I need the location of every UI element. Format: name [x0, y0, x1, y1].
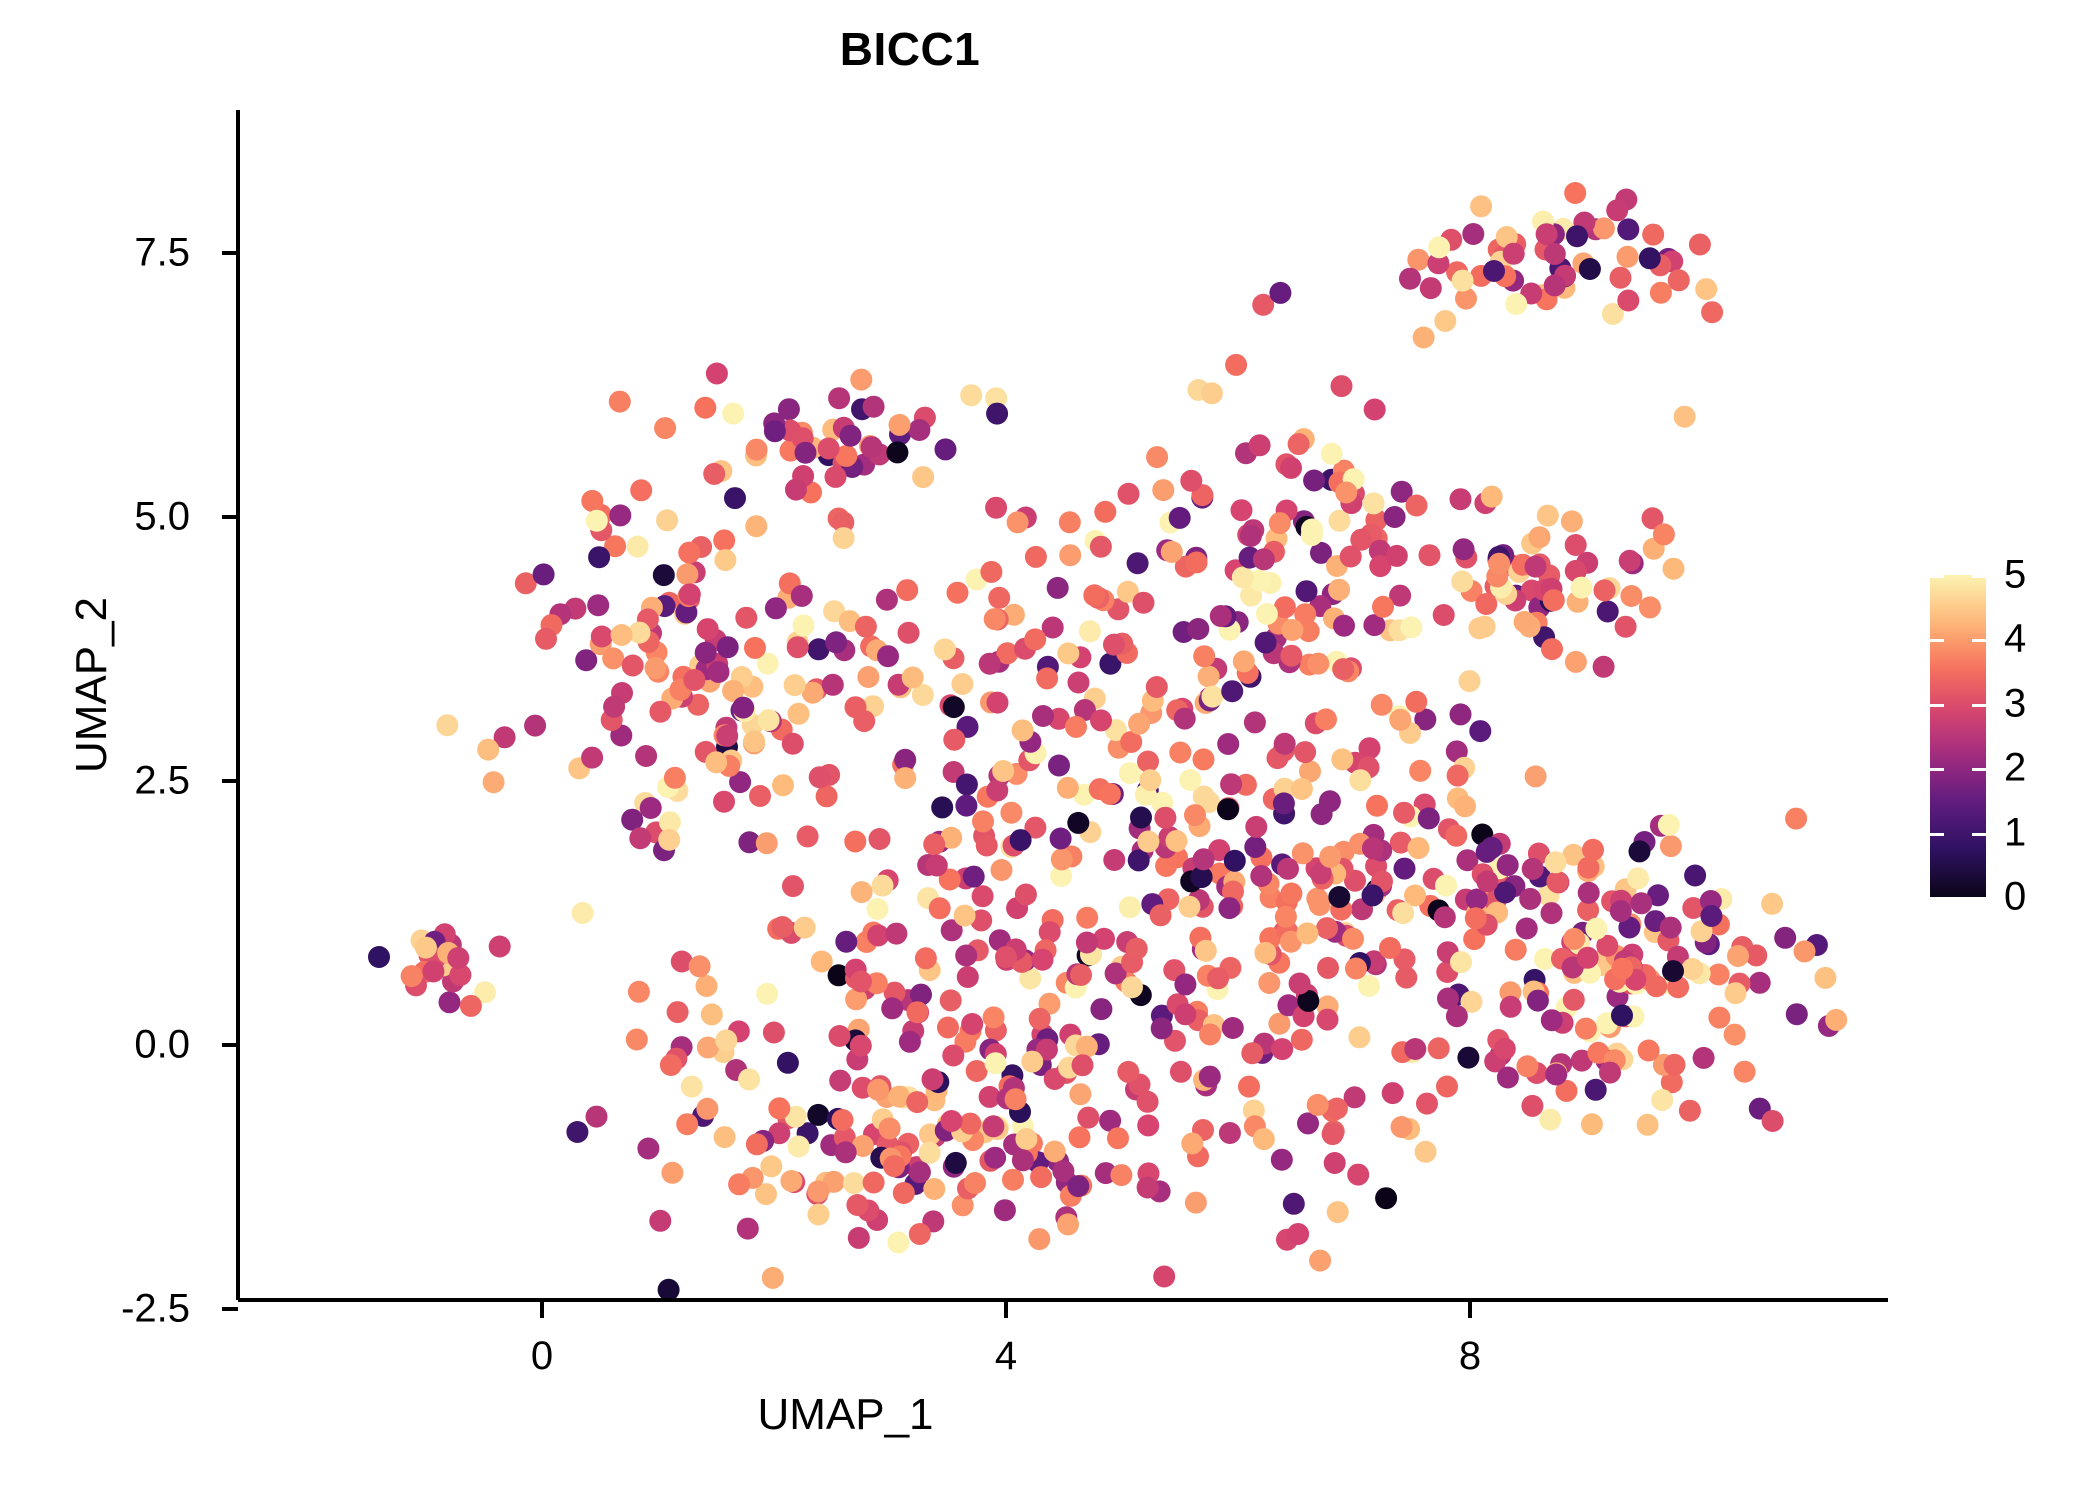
scatter-point: [1119, 762, 1141, 784]
scatter-point: [1749, 972, 1771, 994]
scatter-point: [1169, 507, 1191, 529]
scatter-point: [1404, 1038, 1426, 1060]
scatter-point: [763, 1022, 785, 1044]
scatter-point: [1007, 511, 1029, 533]
scatter-point: [1606, 199, 1628, 221]
scatter-point: [957, 966, 979, 988]
scatter-point: [1651, 1089, 1673, 1111]
scatter-point: [1231, 499, 1253, 521]
scatter-point: [1024, 628, 1046, 650]
scatter-point: [678, 542, 700, 564]
scatter-point: [1151, 1017, 1173, 1039]
scatter-point: [622, 655, 644, 677]
y-tick-label: 7.5: [30, 231, 190, 276]
scatter-point: [1384, 506, 1406, 528]
scatter-point: [1180, 470, 1202, 492]
scatter-point: [1610, 900, 1632, 922]
scatter-point: [791, 585, 813, 607]
scatter-point: [1645, 975, 1667, 997]
scatter-point: [1420, 277, 1442, 299]
scatter-point: [1219, 1122, 1241, 1144]
scatter-point: [832, 1109, 854, 1131]
colorbar-tick: [1930, 833, 1944, 836]
scatter-point: [760, 1155, 782, 1177]
scatter-point: [676, 1113, 698, 1135]
scatter-point: [1187, 618, 1209, 640]
scatter-point: [1273, 792, 1295, 814]
scatter-point: [1462, 223, 1484, 245]
scatter-point: [653, 564, 675, 586]
scatter-point: [581, 747, 603, 769]
scatter-point: [780, 1170, 802, 1192]
scatter-point: [1288, 433, 1310, 455]
scatter-point: [1280, 883, 1302, 905]
scatter-point: [1076, 932, 1098, 954]
scatter-point: [807, 1104, 829, 1126]
scatter-point: [1201, 382, 1223, 404]
scatter-point: [1546, 871, 1568, 893]
scatter-point: [714, 1126, 736, 1148]
scatter-point: [1217, 733, 1239, 755]
scatter-point: [1032, 705, 1054, 727]
scatter-point: [1519, 888, 1541, 910]
scatter-point: [1291, 1029, 1313, 1051]
scatter-point: [1725, 982, 1747, 1004]
scatter-point: [1389, 709, 1411, 731]
scatter-point: [676, 563, 698, 585]
scatter-point: [1154, 807, 1176, 829]
scatter-point: [1275, 906, 1297, 928]
scatter-point: [1447, 765, 1469, 787]
scatter-point: [735, 607, 757, 629]
scatter-point: [848, 1227, 870, 1249]
scatter-point: [1039, 921, 1061, 943]
scatter-point: [1382, 1082, 1404, 1104]
scatter-point: [695, 642, 717, 664]
scatter-point: [1198, 666, 1220, 688]
scatter-point: [1416, 1093, 1438, 1115]
scatter-point: [1186, 551, 1208, 573]
scatter-point: [1005, 1088, 1027, 1110]
plot-canvas: [0, 0, 2100, 1500]
scatter-point: [1067, 812, 1089, 834]
scatter-point: [840, 425, 862, 447]
scatter-point: [1450, 703, 1472, 725]
scatter-point: [929, 897, 951, 919]
scatter-point: [658, 829, 680, 851]
scatter-point: [422, 961, 444, 983]
scatter-point: [1240, 525, 1262, 547]
scatter-point: [1366, 795, 1388, 817]
scatter-point: [483, 771, 505, 793]
scatter-point: [1083, 584, 1105, 606]
scatter-point: [1184, 804, 1206, 826]
scatter-point: [1445, 825, 1467, 847]
scatter-points-layer: [368, 182, 1847, 1301]
scatter-point: [1137, 1114, 1159, 1136]
scatter-point: [1015, 884, 1037, 906]
scatter-point: [1679, 1100, 1701, 1122]
scatter-point: [1307, 653, 1329, 675]
scatter-point: [1217, 798, 1239, 820]
scatter-point: [1516, 918, 1538, 940]
colorbar-tick-label: 5: [2004, 553, 2026, 598]
colorbar-tick: [1930, 768, 1944, 771]
scatter-point: [931, 796, 953, 818]
scatter-point: [1465, 907, 1487, 929]
scatter-point: [1121, 976, 1143, 998]
scatter-point: [1364, 399, 1386, 421]
scatter-point: [1224, 850, 1246, 872]
scatter-point: [994, 1199, 1016, 1221]
scatter-point: [1153, 1266, 1175, 1288]
scatter-point: [1660, 835, 1682, 857]
scatter-point: [1328, 886, 1350, 908]
scatter-point: [1433, 604, 1455, 626]
scatter-point: [1581, 1113, 1603, 1135]
scatter-point: [1307, 1094, 1329, 1116]
scatter-point: [696, 1098, 718, 1120]
scatter-point: [746, 1133, 768, 1155]
scatter-point: [788, 1136, 810, 1158]
scatter-point: [1375, 1187, 1397, 1209]
scatter-point: [1012, 1149, 1034, 1171]
colorbar-tick: [1930, 897, 1944, 900]
scatter-point: [1407, 249, 1429, 271]
scatter-point: [1475, 593, 1497, 615]
scatter-point: [1761, 893, 1783, 915]
scatter-point: [833, 527, 855, 549]
scatter-point: [896, 579, 918, 601]
scatter-point: [1400, 616, 1422, 638]
scatter-point: [1195, 940, 1217, 962]
scatter-point: [1650, 282, 1672, 304]
scatter-point: [1435, 875, 1457, 897]
scatter-point: [1418, 807, 1440, 829]
scatter-point: [401, 965, 423, 987]
scatter-point: [787, 636, 809, 658]
colorbar-tick: [1972, 768, 1986, 771]
scatter-point: [1617, 246, 1639, 268]
scatter-point: [1069, 1083, 1091, 1105]
scatter-point: [976, 835, 998, 857]
scatter-point: [863, 396, 885, 418]
scatter-point: [1372, 596, 1394, 618]
scatter-point: [703, 463, 725, 485]
scatter-point: [1150, 904, 1172, 926]
scatter-point: [1545, 1064, 1567, 1086]
scatter-point: [785, 479, 807, 501]
scatter-point: [1335, 482, 1357, 504]
x-tick-label: 8: [1410, 1334, 1530, 1379]
scatter-point: [1319, 846, 1341, 868]
scatter-point: [1664, 1054, 1686, 1076]
scatter-point: [1178, 896, 1200, 918]
colorbar-tick-label: 0: [2004, 875, 2026, 920]
scatter-point: [1582, 839, 1604, 861]
scatter-point: [1481, 837, 1503, 859]
colorbar-tick: [1972, 833, 1986, 836]
scatter-point: [586, 510, 608, 532]
scatter-point: [1371, 694, 1393, 716]
scatter-point: [1258, 972, 1280, 994]
y-axis-title: UMAP_2: [67, 335, 117, 1035]
scatter-point: [1076, 907, 1098, 929]
colorbar-tick-label: 3: [2004, 681, 2026, 726]
scatter-point: [535, 628, 557, 650]
scatter-point: [1076, 1036, 1098, 1058]
scatter-point: [1340, 546, 1362, 568]
scatter-point: [1724, 1024, 1746, 1046]
scatter-point: [1615, 616, 1637, 638]
scatter-point: [1269, 512, 1291, 534]
scatter-point: [1459, 670, 1481, 692]
scatter-point: [762, 1267, 784, 1289]
scatter-point: [415, 937, 437, 959]
scatter-point: [715, 1029, 737, 1051]
scatter-point: [934, 638, 956, 660]
scatter-point: [906, 1091, 928, 1113]
scatter-point: [886, 441, 908, 463]
scatter-point: [893, 1182, 915, 1204]
scatter-point: [1322, 1123, 1344, 1145]
scatter-point: [1437, 988, 1459, 1010]
scatter-point: [885, 923, 907, 945]
scatter-point: [908, 419, 930, 441]
scatter-point: [807, 1180, 829, 1202]
scatter-point: [1413, 327, 1435, 349]
scatter-point: [1225, 354, 1247, 376]
scatter-point: [1565, 534, 1587, 556]
scatter-point: [368, 946, 390, 968]
y-tick-label: -2.5: [30, 1287, 190, 1332]
scatter-point: [1210, 605, 1232, 627]
scatter-point: [1379, 937, 1401, 959]
scatter-point: [1274, 733, 1296, 755]
scatter-point: [1348, 1026, 1370, 1048]
scatter-point: [1406, 495, 1428, 517]
scatter-point: [716, 725, 738, 747]
scatter-point: [909, 1223, 931, 1245]
scatter-point: [972, 885, 994, 907]
scatter-point: [879, 1118, 901, 1140]
scatter-point: [1010, 829, 1032, 851]
scatter-point: [1301, 524, 1323, 546]
scatter-point: [1658, 814, 1680, 836]
scatter-point: [988, 587, 1010, 609]
scatter-point: [1283, 1193, 1305, 1215]
scatter-point: [1327, 1201, 1349, 1223]
scatter-point: [1593, 217, 1615, 239]
scatter-point: [1497, 854, 1519, 876]
scatter-point: [1575, 1018, 1597, 1040]
scatter-point: [881, 997, 903, 1019]
scatter-point: [1468, 617, 1490, 639]
scatter-point: [1244, 836, 1266, 858]
scatter-point: [1419, 544, 1441, 566]
colorbar-tick: [1930, 575, 1944, 578]
scatter-point: [1271, 1149, 1293, 1171]
scatter-point: [1708, 1007, 1730, 1029]
scatter-point: [588, 546, 610, 568]
scatter-point: [1405, 691, 1427, 713]
colorbar-tick: [1930, 639, 1944, 642]
scatter-point: [661, 1162, 683, 1184]
scatter-point: [919, 1142, 941, 1164]
scatter-point: [1048, 755, 1070, 777]
scatter-point: [1362, 884, 1384, 906]
scatter-point: [1146, 676, 1168, 698]
scatter-point: [1599, 1062, 1621, 1084]
scatter-point: [1221, 680, 1243, 702]
scatter-point: [1543, 589, 1565, 611]
scatter-point: [1044, 1141, 1066, 1163]
scatter-point: [771, 916, 793, 938]
scatter-point: [1309, 1250, 1331, 1272]
scatter-point: [1544, 274, 1566, 296]
scatter-point: [851, 881, 873, 903]
scatter-point: [835, 1141, 857, 1163]
scatter-point: [749, 785, 771, 807]
scatter-point: [611, 624, 633, 646]
scatter-point: [1503, 243, 1525, 265]
scatter-point: [1193, 645, 1215, 667]
scatter-point: [744, 637, 766, 659]
scatter-point: [797, 825, 819, 847]
colorbar-tick-label: 4: [2004, 617, 2026, 662]
scatter-point: [1516, 1055, 1538, 1077]
scatter-point: [1345, 958, 1367, 980]
colorbar-tick: [1972, 897, 1986, 900]
scatter-point: [979, 653, 1001, 675]
scatter-point: [667, 1001, 689, 1023]
scatter-point: [1545, 851, 1567, 873]
scatter-point: [1002, 1169, 1024, 1191]
scatter-point: [1137, 751, 1159, 773]
scatter-point: [1593, 656, 1615, 678]
scatter-point: [1786, 1003, 1808, 1025]
scatter-point: [972, 810, 994, 832]
scatter-point: [1118, 483, 1140, 505]
scatter-point: [1637, 1114, 1659, 1136]
scatter-point: [1695, 278, 1717, 300]
scatter-point: [697, 618, 719, 640]
scatter-point: [902, 667, 924, 689]
scatter-point: [1137, 1177, 1159, 1199]
scatter-point: [1051, 848, 1073, 870]
scatter-point: [1577, 947, 1599, 969]
scatter-point: [737, 1218, 759, 1240]
colorbar-gradient: [1930, 575, 1986, 897]
scatter-point: [1453, 538, 1475, 560]
scatter-point: [1253, 548, 1275, 570]
scatter-point: [982, 1115, 1004, 1137]
scatter-point: [1067, 1175, 1089, 1197]
scatter-point: [1311, 803, 1333, 825]
scatter-point: [1068, 672, 1090, 694]
scatter-point: [1693, 1047, 1715, 1069]
scatter-point: [1079, 620, 1101, 642]
scatter-point: [745, 515, 767, 537]
scatter-point: [1331, 375, 1353, 397]
scatter-point: [1794, 940, 1816, 962]
scatter-point: [829, 1025, 851, 1047]
scatter-point: [1218, 897, 1240, 919]
scatter-point: [1326, 1098, 1348, 1120]
scatter-point: [1280, 645, 1302, 667]
scatter-point: [940, 989, 962, 1011]
colorbar-tick: [1972, 639, 1986, 642]
scatter-point: [961, 1013, 983, 1035]
scatter-point: [964, 1172, 986, 1194]
scatter-point: [1617, 290, 1639, 312]
scatter-point: [1193, 848, 1215, 870]
scatter-point: [1057, 777, 1079, 799]
scatter-point: [1450, 951, 1472, 973]
scatter-point: [706, 363, 728, 385]
scatter-point: [1762, 1110, 1784, 1132]
scatter-point: [954, 905, 976, 927]
scatter-point: [1544, 243, 1566, 265]
scatter-point: [1059, 544, 1081, 566]
scatter-point: [855, 616, 877, 638]
scatter-point: [1271, 1038, 1293, 1060]
scatter-point: [1539, 1109, 1561, 1131]
scatter-point: [566, 1121, 588, 1143]
scatter-point: [963, 866, 985, 888]
scatter-point: [959, 1113, 981, 1135]
scatter-point: [955, 945, 977, 967]
scatter-point: [1241, 1042, 1263, 1064]
scatter-point: [1451, 571, 1473, 593]
scatter-point: [906, 1001, 928, 1023]
scatter-point: [899, 1031, 921, 1053]
scatter-point: [627, 536, 649, 558]
scatter-point: [1130, 807, 1152, 829]
scatter-point: [1653, 523, 1675, 545]
scatter-point: [1386, 545, 1408, 567]
scatter-point: [1306, 888, 1328, 910]
scatter-point: [1117, 1061, 1139, 1083]
scatter-point: [1563, 989, 1585, 1011]
scatter-point: [609, 391, 631, 413]
scatter-point: [1152, 479, 1174, 501]
scatter-point: [1541, 1009, 1563, 1031]
scatter-point: [591, 626, 613, 648]
scatter-point: [1594, 579, 1616, 601]
scatter-point: [1232, 567, 1254, 589]
scatter-point: [1630, 892, 1652, 914]
scatter-point: [1281, 619, 1303, 641]
scatter-point: [645, 657, 667, 679]
scatter-point: [1280, 457, 1302, 479]
scatter-point: [1452, 270, 1474, 292]
scatter-point: [829, 1070, 851, 1092]
scatter-point: [867, 898, 889, 920]
scatter-point: [722, 403, 744, 425]
scatter-point: [1099, 783, 1121, 805]
scatter-point: [1483, 260, 1505, 282]
scatter-point: [843, 1172, 865, 1194]
scatter-point: [984, 608, 1006, 630]
scatter-point: [923, 833, 945, 855]
scatter-point: [923, 1178, 945, 1200]
x-axis-ticks: [542, 1300, 1470, 1318]
colorbar-legend: 543210: [1930, 560, 2080, 920]
scatter-point: [1500, 996, 1522, 1018]
scatter-point: [1174, 1003, 1196, 1025]
scatter-point: [1407, 837, 1429, 859]
